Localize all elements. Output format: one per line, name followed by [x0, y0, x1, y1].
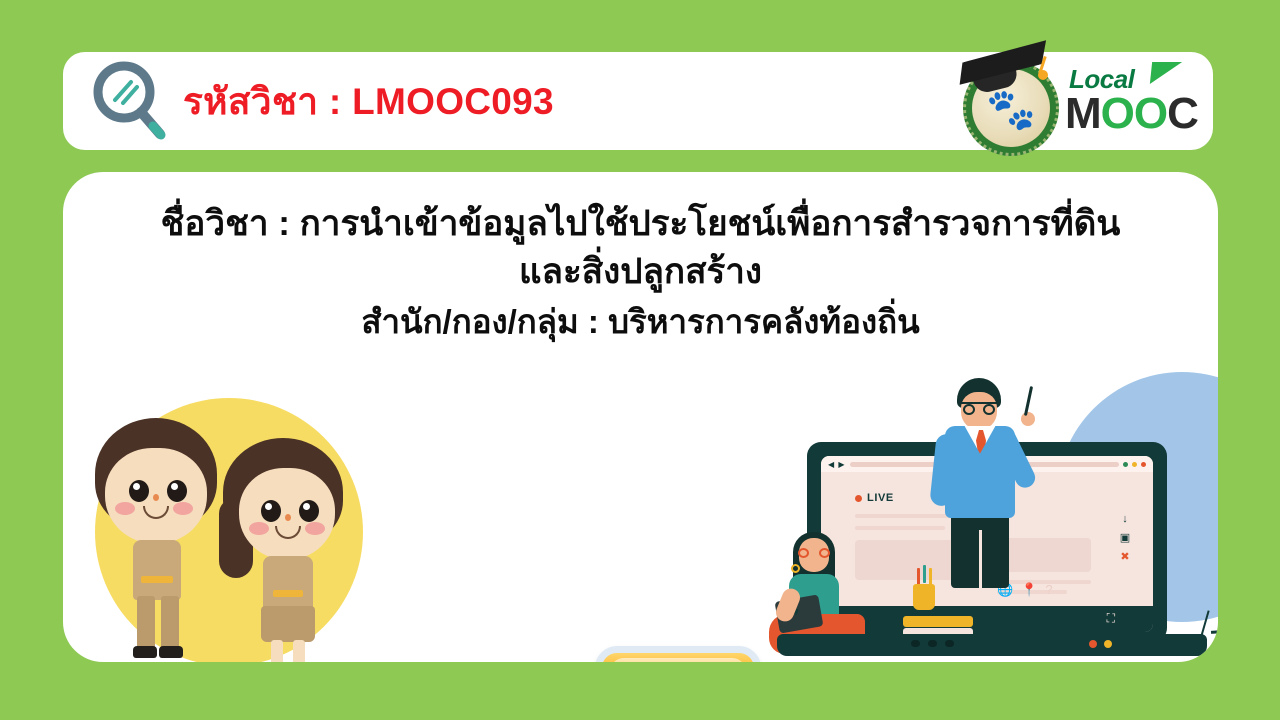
start-button[interactable]: START — [595, 646, 761, 662]
course-code-text: รหัสวิชา : LMOOC093 — [183, 83, 554, 120]
antenna-base-icon — [1211, 629, 1218, 634]
flag-shape-icon — [1150, 62, 1182, 84]
teacher-avatar — [929, 378, 1059, 588]
wordmark-m: M — [1065, 89, 1101, 138]
video-camera-icon[interactable]: ▣ — [1120, 533, 1130, 544]
laptop-indicator-lights — [1089, 640, 1112, 648]
graduation-cap-icon — [955, 36, 1059, 88]
wordmark-mooc: MOOC — [1065, 92, 1198, 136]
officials-illustration — [77, 394, 387, 662]
bottom-green-band — [0, 662, 1280, 720]
local-mooc-logo: 🐾 Local MOOC — [955, 30, 1205, 160]
live-badge: LIVE — [855, 492, 894, 504]
course-title-block: ชื่อวิชา : การนำเข้าข้อมูลไปใช้ประโยชน์เ… — [63, 200, 1218, 346]
earring-icon — [791, 564, 800, 573]
singha-lion-emblem: 🐾 — [986, 90, 1036, 130]
female-official-mascot — [223, 438, 349, 662]
close-circle-icon[interactable]: ✖ — [1120, 552, 1129, 563]
nav-arrows-icon[interactable]: ◀ ▶ — [828, 460, 846, 469]
wordmark-oo: OO — [1101, 89, 1167, 138]
laptop-keys — [911, 640, 954, 647]
course-title-line-1: ชื่อวิชา : การนำเข้าข้อมูลไปใช้ประโยชน์เ… — [63, 200, 1218, 248]
department-line: สำนัก/กอง/กลุ่ม : บริหารการคลังท้องถิ่น — [63, 297, 1218, 347]
mooc-wordmark: Local MOOC — [1065, 66, 1201, 150]
wordmark-c: C — [1167, 89, 1198, 138]
status-dot-green — [1123, 462, 1128, 467]
live-label: LIVE — [867, 492, 894, 504]
course-info-card: ชื่อวิชา : การนำเข้าข้อมูลไปใช้ประโยชน์เ… — [63, 172, 1218, 662]
screen-side-icons: ↓ ▣ ✖ — [1117, 514, 1133, 563]
magnifier-icon — [91, 60, 167, 142]
slide-canvas: รหัสวิชา : LMOOC093 🐾 Local MOOC — [0, 0, 1280, 720]
status-dot-red — [1141, 462, 1146, 467]
download-icon[interactable]: ↓ — [1122, 514, 1128, 525]
course-code-card: รหัสวิชา : LMOOC093 🐾 Local MOOC — [63, 52, 1213, 150]
course-title-line-2: และสิ่งปลูกสร้าง — [63, 248, 1218, 296]
laptop-base — [777, 634, 1207, 656]
glasses-icon — [797, 548, 831, 558]
fullscreen-icon[interactable]: ⛶ — [1107, 611, 1115, 626]
male-official-mascot — [95, 418, 221, 662]
pencil-cup-icon — [913, 584, 935, 610]
live-dot-icon — [855, 495, 862, 502]
online-class-illustration: ◀ ▶ LIVE ↓ ▣ — [763, 372, 1218, 662]
glasses-icon — [961, 402, 997, 413]
status-dot-yellow — [1132, 462, 1137, 467]
